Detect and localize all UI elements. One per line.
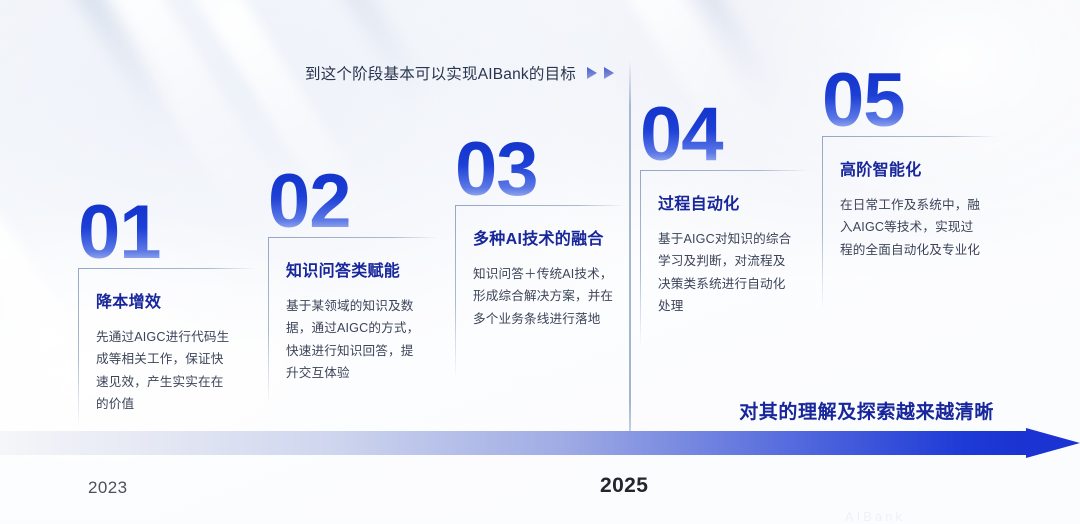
stage-title: 降本增效: [96, 288, 256, 312]
year-2025-divider: [629, 60, 631, 448]
timeline-arrow-label: 对其的理解及探索越来越清晰: [739, 397, 994, 424]
stage-number: 05: [822, 66, 997, 136]
stage-body: 基于AIGC对知识的综合学习及判断，对流程及决策类系统进行自动化处理: [658, 228, 794, 318]
stage-number: 03: [455, 135, 625, 205]
watermark: AIBank: [845, 509, 905, 524]
card-top-border: [822, 136, 997, 137]
stage-card-04[interactable]: 04 过程自动化 基于AIGC对知识的综合学习及判断，对流程及决策类系统进行自动…: [640, 100, 808, 348]
stage-number: 02: [268, 167, 438, 237]
stage-number: 01: [78, 198, 256, 268]
stage-card-05[interactable]: 05 高阶智能化 在日常工作及系统中，融入AIGC等技术，实现过程的全面自动化及…: [822, 66, 997, 311]
card-left-border: [78, 268, 79, 428]
stage-card-body: 高阶智能化 在日常工作及系统中，融入AIGC等技术，实现过程的全面自动化及专业化: [822, 136, 997, 311]
year-label-marker: 2025: [600, 474, 648, 498]
card-left-border: [455, 205, 456, 380]
stage-title: 知识问答类赋能: [286, 257, 438, 281]
card-left-border: [822, 136, 823, 311]
year-label-start: 2023: [88, 478, 127, 498]
stage-card-03[interactable]: 03 多种AI技术的融合 知识问答＋传统AI技术，形成综合解决方案，并在多个业务…: [455, 135, 625, 380]
annotation-text: 到这个阶段基本可以实现AIBank的目标: [305, 62, 576, 84]
stage-body: 在日常工作及系统中，融入AIGC等技术，实现过程的全面自动化及专业化: [840, 194, 985, 261]
card-left-border: [268, 237, 269, 407]
card-top-border: [268, 237, 438, 238]
annotation-callout: 到这个阶段基本可以实现AIBank的目标: [305, 62, 617, 84]
card-top-border: [455, 205, 625, 206]
stage-card-02[interactable]: 02 知识问答类赋能 基于某领域的知识及数据，通过AIGC的方式，快速进行知识回…: [268, 167, 438, 407]
stage-body: 先通过AIGC进行代码生成等相关工作，保证快速见效，产生实实在在的价值: [96, 326, 236, 416]
timeline-arrow: [0, 428, 1080, 458]
stage-body: 知识问答＋传统AI技术，形成综合解决方案，并在多个业务条线进行落地: [473, 263, 618, 330]
card-top-border: [640, 170, 808, 171]
stage-body: 基于某领域的知识及数据，通过AIGC的方式，快速进行知识回答，提升交互体验: [286, 295, 426, 385]
stage-card-01[interactable]: 01 降本增效 先通过AIGC进行代码生成等相关工作，保证快速见效，产生实实在在…: [78, 198, 256, 428]
double-chevron-right-icon: [585, 65, 617, 81]
card-left-border: [640, 170, 641, 348]
stage-title: 高阶智能化: [840, 156, 997, 180]
stage-card-body: 过程自动化 基于AIGC对知识的综合学习及判断，对流程及决策类系统进行自动化处理: [640, 170, 808, 348]
card-top-border: [78, 268, 256, 269]
stage-number: 04: [640, 100, 808, 170]
right-arrow-icon: [1026, 428, 1080, 458]
stage-card-body: 降本增效 先通过AIGC进行代码生成等相关工作，保证快速见效，产生实实在在的价值: [78, 268, 256, 428]
stage-title: 过程自动化: [658, 190, 808, 214]
stage-card-body: 多种AI技术的融合 知识问答＋传统AI技术，形成综合解决方案，并在多个业务条线进…: [455, 205, 625, 380]
stage-card-body: 知识问答类赋能 基于某领域的知识及数据，通过AIGC的方式，快速进行知识回答，提…: [268, 237, 438, 407]
stage-title: 多种AI技术的融合: [473, 225, 625, 249]
timeline-arrow-shaft: [0, 431, 1026, 455]
